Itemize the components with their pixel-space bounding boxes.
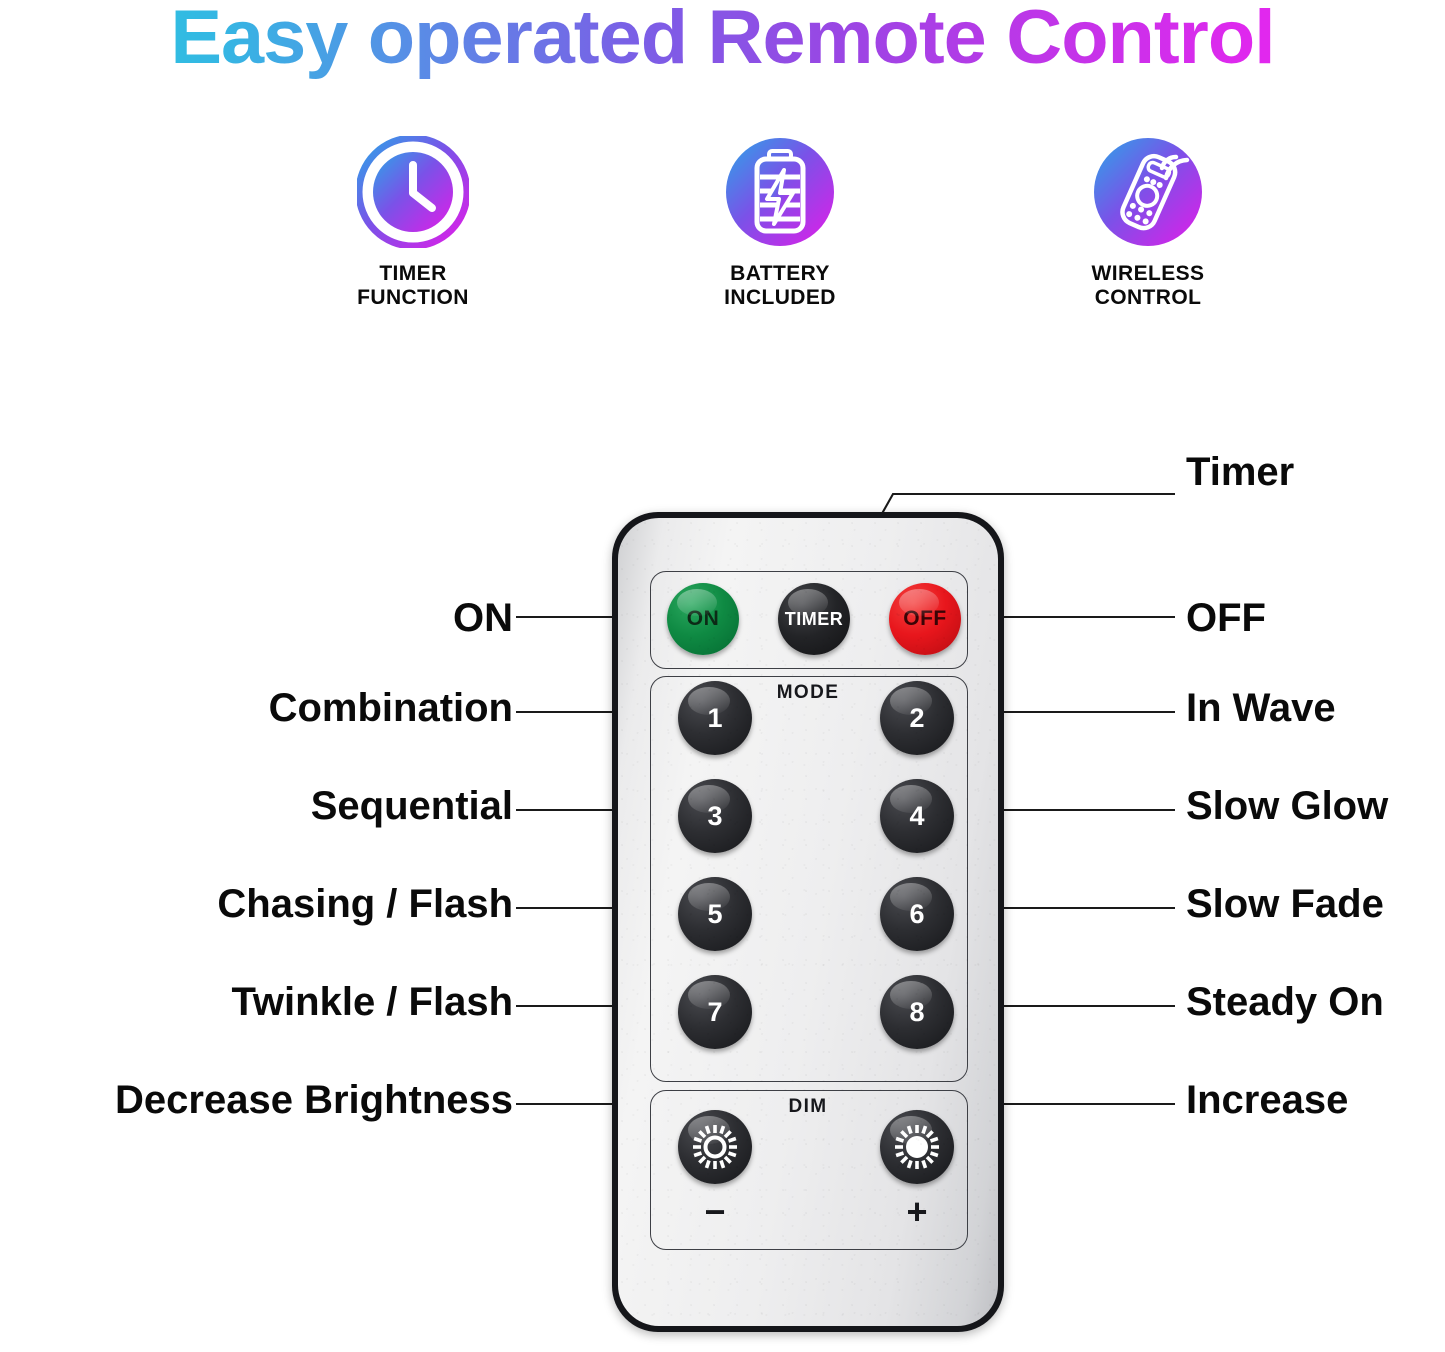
dim-panel-label: DIM: [618, 1096, 998, 1118]
button-mode-4[interactable]: 4: [880, 779, 954, 853]
callout-off: OFF: [1186, 598, 1266, 638]
callout-in-wave: In Wave: [1186, 688, 1336, 728]
feature-caption: WIRELESS CONTROL: [1018, 262, 1278, 310]
callout-increase: Increase: [1186, 1080, 1348, 1120]
remote-icon: [1092, 136, 1204, 248]
feature-timer-function: TIMER FUNCTION: [283, 136, 543, 310]
button-off[interactable]: OFF: [889, 583, 961, 655]
button-dim-increase[interactable]: [880, 1110, 954, 1184]
feature-caption: BATTERY INCLUDED: [650, 262, 910, 310]
callout-combination: Combination: [269, 688, 513, 728]
callout-chasing-flash: Chasing / Flash: [217, 884, 513, 924]
battery-icon: [724, 136, 836, 248]
sun-dim-icon: [690, 1122, 740, 1172]
callout-timer: Timer: [1186, 452, 1294, 492]
button-timer[interactable]: TIMER: [778, 583, 850, 655]
button-mode-8[interactable]: 8: [880, 975, 954, 1049]
callout-on: ON: [453, 598, 513, 638]
remote-control-device: MODE DIM ON TIMER OFF 1 2 3 4 5 6 7 8: [612, 512, 1004, 1332]
remote-faceplate: MODE DIM ON TIMER OFF 1 2 3 4 5 6 7 8: [618, 518, 998, 1326]
button-mode-1[interactable]: 1: [678, 681, 752, 755]
feature-battery-included: BATTERY INCLUDED: [650, 136, 910, 310]
button-mode-3[interactable]: 3: [678, 779, 752, 853]
dim-increase-sign: +: [880, 1194, 954, 1230]
button-dim-decrease[interactable]: [678, 1110, 752, 1184]
button-mode-7[interactable]: 7: [678, 975, 752, 1049]
callout-twinkle-flash: Twinkle / Flash: [231, 982, 513, 1022]
button-mode-2[interactable]: 2: [880, 681, 954, 755]
dim-decrease-sign: −: [678, 1194, 752, 1230]
feature-caption: TIMER FUNCTION: [283, 262, 543, 310]
button-mode-6[interactable]: 6: [880, 877, 954, 951]
page-title: Easy operated Remote Control: [0, 0, 1445, 81]
feature-wireless-control: WIRELESS CONTROL: [1018, 136, 1278, 310]
button-mode-5[interactable]: 5: [678, 877, 752, 951]
clock-icon: [357, 136, 469, 248]
button-on[interactable]: ON: [667, 583, 739, 655]
callout-slow-glow: Slow Glow: [1186, 786, 1388, 826]
sun-bright-icon: [892, 1122, 942, 1172]
callout-steady-on: Steady On: [1186, 982, 1384, 1022]
callout-decrease-brightness: Decrease Brightness: [115, 1080, 513, 1120]
callout-slow-fade: Slow Fade: [1186, 884, 1384, 924]
callout-sequential: Sequential: [311, 786, 513, 826]
